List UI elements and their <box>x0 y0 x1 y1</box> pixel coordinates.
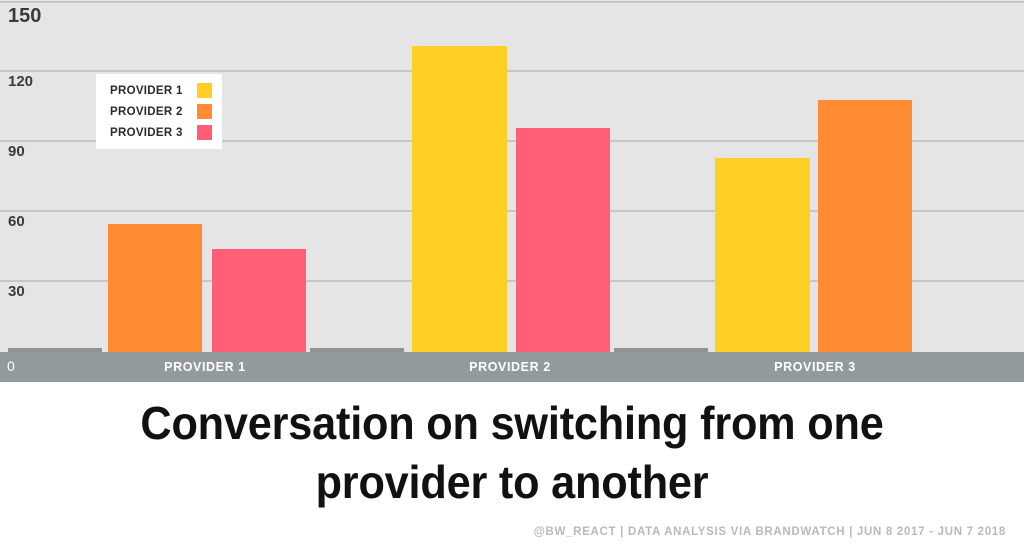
legend-item-provider-2[interactable]: PROVIDER 2 <box>96 101 222 122</box>
plot-area: 150 120 90 60 30 PROVIDER 1 <box>0 0 1024 352</box>
bar-p1-provider3 <box>212 249 306 352</box>
bar-p3-provider1 <box>715 158 810 352</box>
x-axis-band: 0 PROVIDER 1 PROVIDER 2 PROVIDER 3 <box>0 352 1024 382</box>
x-axis-category-provider-2: PROVIDER 2 <box>365 360 655 374</box>
legend-label-provider-2: PROVIDER 2 <box>110 106 183 118</box>
x-axis-category-provider-1: PROVIDER 1 <box>60 360 350 374</box>
bar-p3-provider2 <box>818 100 912 352</box>
bar-p1-provider2 <box>108 224 202 352</box>
bar-p2-provider3 <box>516 128 610 352</box>
x-axis-category-provider-3: PROVIDER 3 <box>670 360 960 374</box>
caption-area: Conversation on switching from one provi… <box>0 382 1024 550</box>
chart-screenshot: 150 120 90 60 30 PROVIDER 1 <box>0 0 1024 550</box>
legend-item-provider-3[interactable]: PROVIDER 3 <box>96 122 222 143</box>
legend-label-provider-3: PROVIDER 3 <box>110 127 183 139</box>
bar-group-container <box>0 0 1024 352</box>
legend-item-provider-1[interactable]: PROVIDER 1 <box>96 80 222 101</box>
legend: PROVIDER 1 PROVIDER 2 PROVIDER 3 <box>96 74 222 149</box>
x-axis-zero-label: 0 <box>7 359 15 373</box>
legend-swatch-provider-1 <box>197 83 212 98</box>
legend-swatch-provider-2 <box>197 104 212 119</box>
bar-p2-provider1 <box>412 46 507 352</box>
attribution-line: @BW_REACT | DATA ANALYSIS VIA BRANDWATCH… <box>534 526 1006 538</box>
chart-title: Conversation on switching from one provi… <box>87 394 937 512</box>
legend-swatch-provider-3 <box>197 125 212 140</box>
legend-label-provider-1: PROVIDER 1 <box>110 85 183 97</box>
